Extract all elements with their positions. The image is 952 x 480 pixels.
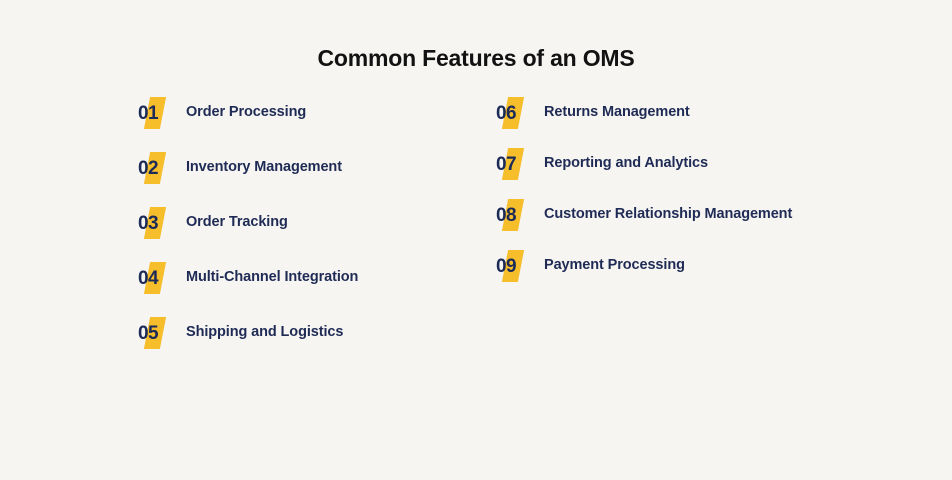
badge-number-label: 02 [138, 151, 172, 185]
feature-item-06: 06 Returns Management [496, 96, 916, 130]
badge-number-label: 06 [496, 96, 530, 130]
feature-label: Order Tracking [186, 214, 288, 231]
feature-item-08: 08 Customer Relationship Management [496, 198, 916, 232]
feature-item-05: 05 Shipping and Logistics [138, 316, 468, 350]
feature-item-02: 02 Inventory Management [138, 151, 468, 185]
number-badge-06: 06 [496, 96, 530, 130]
feature-column-left: 01 Order Processing 02 Inventory Managem… [138, 96, 468, 371]
feature-column-right: 06 Returns Management 07 Reporting and A… [496, 96, 916, 300]
number-badge-04: 04 [138, 261, 172, 295]
page-title: Common Features of an OMS [0, 45, 952, 73]
feature-item-04: 04 Multi-Channel Integration [138, 261, 468, 295]
feature-label: Reporting and Analytics [544, 155, 708, 172]
feature-label: Inventory Management [186, 159, 342, 176]
number-badge-09: 09 [496, 249, 530, 283]
feature-label: Customer Relationship Management [544, 206, 792, 223]
number-badge-08: 08 [496, 198, 530, 232]
number-badge-05: 05 [138, 316, 172, 350]
feature-item-01: 01 Order Processing [138, 96, 468, 130]
badge-number-label: 07 [496, 147, 530, 181]
badge-number-label: 03 [138, 206, 172, 240]
feature-label: Returns Management [544, 104, 690, 121]
feature-label: Payment Processing [544, 257, 685, 274]
feature-label: Order Processing [186, 104, 306, 121]
badge-number-label: 08 [496, 198, 530, 232]
badge-number-label: 04 [138, 261, 172, 295]
number-badge-03: 03 [138, 206, 172, 240]
badge-number-label: 01 [138, 96, 172, 130]
number-badge-02: 02 [138, 151, 172, 185]
number-badge-07: 07 [496, 147, 530, 181]
feature-item-09: 09 Payment Processing [496, 249, 916, 283]
feature-item-07: 07 Reporting and Analytics [496, 147, 916, 181]
badge-number-label: 05 [138, 316, 172, 350]
feature-item-03: 03 Order Tracking [138, 206, 468, 240]
infographic-canvas: Common Features of an OMS 01 Order Proce… [0, 0, 952, 480]
number-badge-01: 01 [138, 96, 172, 130]
badge-number-label: 09 [496, 249, 530, 283]
feature-label: Multi-Channel Integration [186, 269, 358, 286]
feature-label: Shipping and Logistics [186, 324, 343, 341]
